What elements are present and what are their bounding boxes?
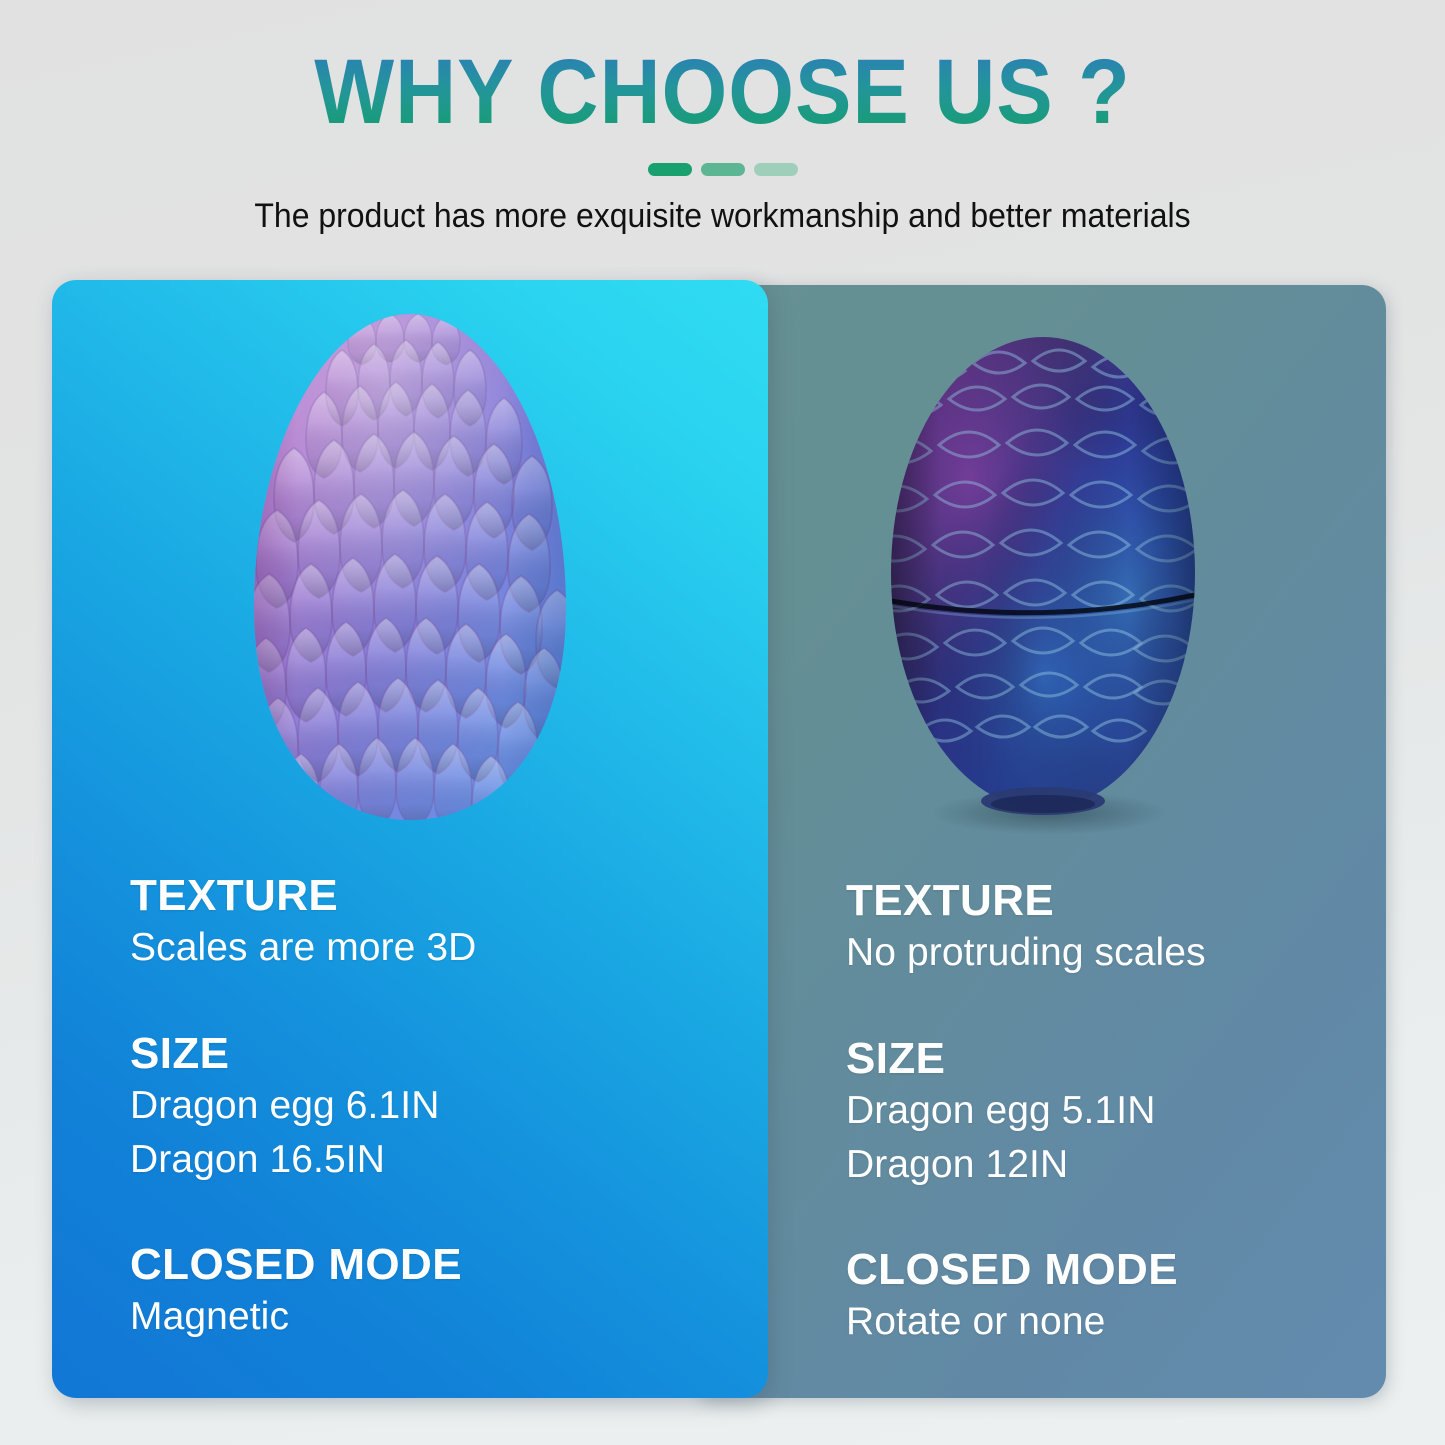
spec-closed-mode: CLOSED MODE Rotate or none bbox=[846, 1244, 1346, 1348]
our-product-card: TEXTURE Scales are more 3D SIZE Dragon e… bbox=[52, 280, 768, 1398]
spec-value: Rotate or none bbox=[846, 1296, 1346, 1348]
our-egg-image bbox=[52, 308, 768, 868]
spec-value: Magnetic bbox=[130, 1291, 728, 1343]
spec-label: SIZE bbox=[130, 1028, 728, 1080]
our-spec-list: TEXTURE Scales are more 3D SIZE Dragon e… bbox=[130, 870, 728, 1343]
competitor-spec-list: TEXTURE No protruding scales SIZE Dragon… bbox=[846, 875, 1346, 1348]
spec-label: CLOSED MODE bbox=[130, 1239, 728, 1291]
spec-size: SIZE Dragon egg 6.1IN Dragon 16.5IN bbox=[130, 1028, 728, 1186]
spec-value: No protruding scales bbox=[846, 927, 1346, 979]
spec-value: Scales are more 3D bbox=[130, 922, 728, 974]
spec-texture: TEXTURE Scales are more 3D bbox=[130, 870, 728, 974]
infographic-page: WHY CHOOSE US ? The product has more exq… bbox=[0, 0, 1445, 1445]
spec-size: SIZE Dragon egg 5.1IN Dragon 12IN bbox=[846, 1033, 1346, 1191]
spec-texture: TEXTURE No protruding scales bbox=[846, 875, 1346, 979]
comparison-cards: TEXTURE No protruding scales SIZE Dragon… bbox=[0, 0, 1445, 1445]
dragon-egg-flat-scales-illustration bbox=[853, 301, 1233, 841]
spec-label: SIZE bbox=[846, 1033, 1346, 1085]
spec-value: Dragon egg 5.1IN bbox=[846, 1085, 1346, 1137]
spec-closed-mode: CLOSED MODE Magnetic bbox=[130, 1239, 728, 1343]
spec-label: TEXTURE bbox=[130, 870, 728, 922]
spec-label: TEXTURE bbox=[846, 875, 1346, 927]
egg-seam-line bbox=[891, 595, 1195, 613]
spec-value: Dragon 12IN bbox=[846, 1139, 1346, 1191]
spec-label: CLOSED MODE bbox=[846, 1244, 1346, 1296]
spec-value: Dragon egg 6.1IN bbox=[130, 1080, 728, 1132]
competitor-product-card: TEXTURE No protruding scales SIZE Dragon… bbox=[700, 285, 1386, 1398]
dragon-egg-pointed-scales-illustration bbox=[230, 308, 590, 838]
spec-value: Dragon 16.5IN bbox=[130, 1134, 728, 1186]
competitor-egg-image bbox=[700, 301, 1386, 861]
egg-scale-rows bbox=[246, 314, 578, 838]
